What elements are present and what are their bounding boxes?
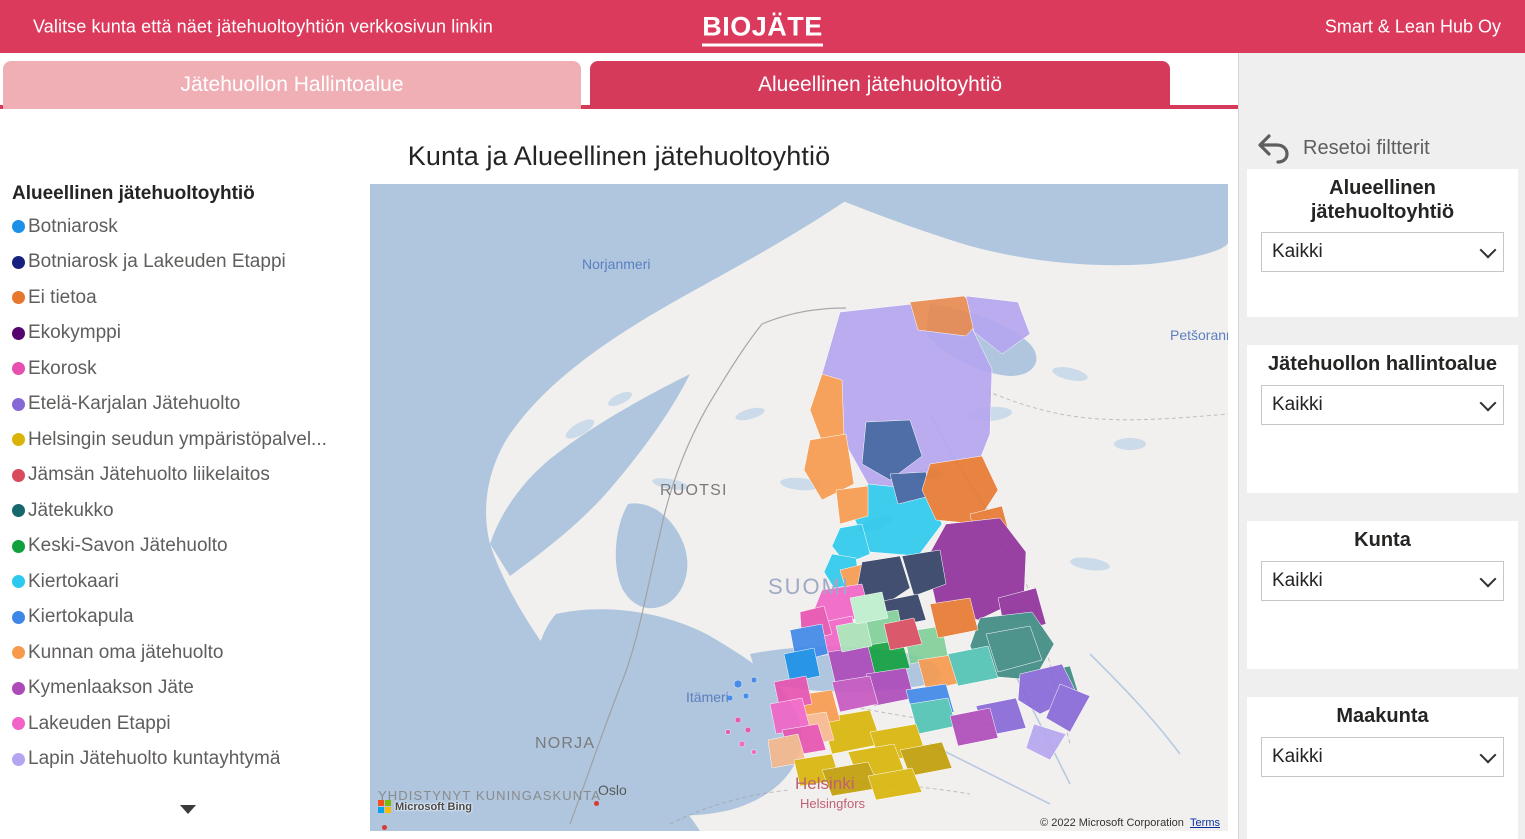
legend-color-swatch xyxy=(12,753,25,766)
reset-filters-button[interactable]: Resetoi filtterit xyxy=(1239,125,1525,171)
legend-item-label: Keski-Savon Jätehuolto xyxy=(28,535,228,557)
legend-color-swatch xyxy=(12,362,25,375)
filter-selected-value: Kaikki xyxy=(1272,241,1323,263)
legend-item-label: Kiertokapula xyxy=(28,606,134,628)
legend-color-swatch xyxy=(12,327,25,340)
filter-pane: Resetoi filtterit Alueellinen jätehuolto… xyxy=(1238,53,1525,839)
legend-item[interactable]: Botniarosk ja Lakeuden Etappi xyxy=(8,245,368,281)
legend-item-label: Kymenlaakson Jäte xyxy=(28,677,194,699)
legend-color-swatch xyxy=(12,717,25,730)
legend-item[interactable]: Jämsän Jätehuolto liikelaitos xyxy=(8,458,368,494)
legend-title: Alueellinen jätehuoltoyhtiö xyxy=(8,183,368,209)
legend-color-swatch xyxy=(12,611,25,624)
legend-item-label: Jämsän Jätehuolto liikelaitos xyxy=(28,464,270,486)
chevron-down-icon xyxy=(1480,394,1497,411)
legend-item-label: Lakeuden Etappi xyxy=(28,713,171,735)
legend-item-label: Botniarosk xyxy=(28,216,118,238)
filter-card: Alueellinen jätehuoltoyhtiöKaikki xyxy=(1247,169,1518,317)
legend-item-label: Ekokymppi xyxy=(28,322,121,344)
legend-color-swatch xyxy=(12,398,25,411)
legend-item-label: Ei tietoa xyxy=(28,287,97,309)
filter-selected-value: Kaikki xyxy=(1272,394,1323,416)
legend-item-label: Botniarosk ja Lakeuden Etappi xyxy=(28,251,286,273)
legend-item-label: Ekorosk xyxy=(28,358,97,380)
undo-arrow-icon xyxy=(1257,132,1293,164)
legend-color-swatch xyxy=(12,575,25,588)
legend-item[interactable]: Botniarosk xyxy=(8,209,368,245)
app-title-text: BIOJÄTE xyxy=(702,11,823,46)
filter-title: Alueellinen jätehuoltoyhtiö xyxy=(1247,169,1518,224)
filter-title: Maakunta xyxy=(1247,697,1518,729)
microsoft-logo-icon xyxy=(378,800,391,813)
legend-color-swatch xyxy=(12,540,25,553)
legend-item-label: Kiertokaari xyxy=(28,571,119,593)
map-terms-link[interactable]: Terms xyxy=(1190,817,1220,829)
legend-item-label: Helsingin seudun ympäristöpalvel... xyxy=(28,429,327,451)
legend-color-swatch xyxy=(12,469,25,482)
legend-item[interactable]: Kiertokapula xyxy=(8,600,368,636)
tab-jatehuollon-hallintoalue[interactable]: Jätehuollon Hallintoalue xyxy=(3,61,581,109)
chevron-down-icon xyxy=(180,805,196,814)
map-attribution: © 2022 Microsoft Corporation Terms xyxy=(1040,817,1220,829)
report-page: Valitse kunta että näet jätehuoltoyhtiön… xyxy=(0,0,1525,839)
legend-color-swatch xyxy=(12,291,25,304)
city-dot-douglas xyxy=(382,825,387,830)
reset-filters-label: Resetoi filtterit xyxy=(1303,137,1430,160)
filter-dropdown[interactable]: Kaikki xyxy=(1261,232,1504,272)
legend-color-swatch xyxy=(12,256,25,269)
tab-label: Alueellinen jätehuoltoyhtiö xyxy=(758,73,1002,97)
legend-item[interactable]: Ekokymppi xyxy=(8,316,368,352)
filter-title: Kunta xyxy=(1247,521,1518,553)
legend-item[interactable]: Keski-Savon Jätehuolto xyxy=(8,529,368,565)
map-graphic xyxy=(370,184,1228,831)
legend-item[interactable]: Ekorosk xyxy=(8,351,368,387)
filter-title: Jätehuollon hallintoalue xyxy=(1247,345,1518,377)
header-company-name: Smart & Lean Hub Oy xyxy=(1325,16,1501,37)
app-title: BIOJÄTE xyxy=(0,11,1525,42)
legend-item-label: Kunnan oma jätehuolto xyxy=(28,642,223,664)
bing-logo-text: Microsoft Bing xyxy=(395,801,472,813)
legend-item[interactable]: Lakeuden Etappi xyxy=(8,706,368,742)
map-copyright-text: © 2022 Microsoft Corporation xyxy=(1040,817,1184,829)
legend-item[interactable]: Etelä-Karjalan Jätehuolto xyxy=(8,387,368,423)
chevron-down-icon xyxy=(1480,746,1497,763)
chevron-down-icon xyxy=(1480,242,1497,259)
filter-dropdown[interactable]: Kaikki xyxy=(1261,737,1504,777)
legend-item[interactable]: Jätekukko xyxy=(8,493,368,529)
filter-card: MaakuntaKaikki xyxy=(1247,697,1518,839)
filter-dropdown[interactable]: Kaikki xyxy=(1261,385,1504,425)
filter-card: KuntaKaikki xyxy=(1247,521,1518,669)
chevron-down-icon xyxy=(1480,570,1497,587)
filter-selected-value: Kaikki xyxy=(1272,746,1323,768)
tab-alueellinen-jatehuoltoyhtio[interactable]: Alueellinen jätehuoltoyhtiö xyxy=(590,61,1170,109)
legend-item[interactable]: Kunnan oma jätehuolto xyxy=(8,635,368,671)
legend-scroll-down-button[interactable] xyxy=(8,805,368,817)
map-legend: Alueellinen jätehuoltoyhtiö BotniaroskBo… xyxy=(8,183,368,831)
city-dot-oslo xyxy=(594,801,599,806)
tab-label: Jätehuollon Hallintoalue xyxy=(181,73,404,97)
bing-logo[interactable]: Microsoft Bing xyxy=(378,800,472,813)
filter-dropdown[interactable]: Kaikki xyxy=(1261,561,1504,601)
legend-color-swatch xyxy=(12,220,25,233)
legend-item[interactable]: Kiertokaari xyxy=(8,564,368,600)
filter-selected-value: Kaikki xyxy=(1272,570,1323,592)
legend-item-label: Jätekukko xyxy=(28,500,114,522)
map-visual-title: Kunta ja Alueellinen jätehuoltoyhtiö xyxy=(0,141,1238,172)
legend-item[interactable]: Helsingin seudun ympäristöpalvel... xyxy=(8,422,368,458)
legend-item[interactable]: Ei tietoa xyxy=(8,280,368,316)
filter-card: Jätehuollon hallintoalueKaikki xyxy=(1247,345,1518,493)
app-header: Valitse kunta että näet jätehuoltoyhtiön… xyxy=(0,0,1525,53)
legend-item-list: BotniaroskBotniarosk ja Lakeuden EtappiE… xyxy=(8,209,368,777)
legend-item[interactable]: Kymenlaakson Jäte xyxy=(8,671,368,707)
legend-color-swatch xyxy=(12,504,25,517)
bing-map-visual[interactable]: Norjanmeri Petšoranm Pohjanmeri Itämeri … xyxy=(370,184,1228,831)
tab-bar: Jätehuollon Hallintoalue Alueellinen jät… xyxy=(0,53,1238,125)
report-canvas: Kunta ja Alueellinen jätehuoltoyhtiö Alu… xyxy=(0,125,1238,839)
legend-color-swatch xyxy=(12,433,25,446)
legend-item-label: Etelä-Karjalan Jätehuolto xyxy=(28,393,240,415)
legend-color-swatch xyxy=(12,682,25,695)
legend-item[interactable]: Lapin Jätehuolto kuntayhtymä xyxy=(8,742,368,778)
legend-item-label: Lapin Jätehuolto kuntayhtymä xyxy=(28,748,280,770)
legend-color-swatch xyxy=(12,646,25,659)
